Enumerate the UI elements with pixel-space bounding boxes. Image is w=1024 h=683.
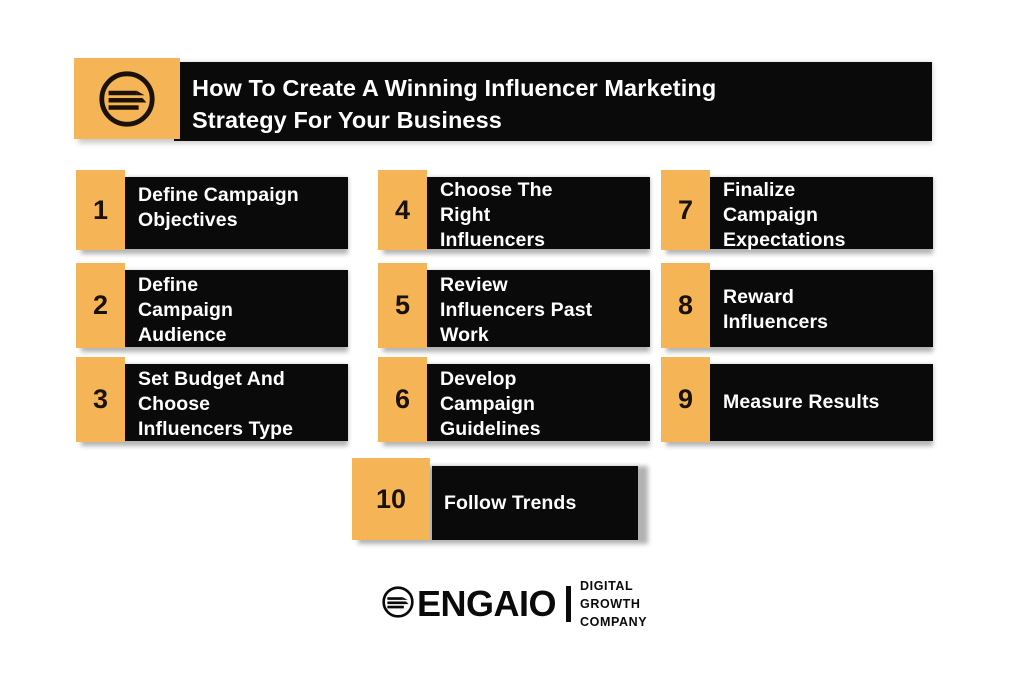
infographic-canvas: How To Create A Winning Influencer Marke… bbox=[0, 0, 1024, 683]
step-label: Reward Influencers bbox=[723, 285, 923, 335]
step-item-9[interactable]: 9 Measure Results bbox=[661, 357, 933, 446]
step-label: Choose The Right Influencers bbox=[440, 178, 640, 253]
step-label: Develop Campaign Guidelines bbox=[440, 367, 640, 442]
engaio-circle-logo-icon bbox=[381, 585, 415, 624]
step-number-badge: 2 bbox=[76, 263, 125, 348]
page-title: How To Create A Winning Influencer Marke… bbox=[192, 72, 912, 137]
step-item-2[interactable]: 2 Define Campaign Audience bbox=[76, 263, 348, 352]
step-number-badge: 4 bbox=[378, 170, 427, 250]
footer-tagline: DIGITAL GROWTH COMPANY bbox=[580, 577, 701, 631]
step-label: Measure Results bbox=[723, 390, 928, 415]
step-item-5[interactable]: 5 Review Influencers Past Work bbox=[378, 263, 650, 352]
step-number-badge: 1 bbox=[76, 170, 125, 250]
step-item-4[interactable]: 4 Choose The Right Influencers bbox=[378, 170, 650, 254]
step-item-7[interactable]: 7 Finalize Campaign Expectations bbox=[661, 170, 933, 254]
step-item-10[interactable]: 10 Follow Trends bbox=[352, 458, 648, 544]
step-item-1[interactable]: 1 Define Campaign Objectives bbox=[76, 170, 348, 254]
header-banner: How To Create A Winning Influencer Marke… bbox=[74, 58, 932, 143]
step-label: Follow Trends bbox=[444, 491, 634, 516]
footer-tagline-line1: DIGITAL bbox=[580, 577, 701, 595]
step-item-8[interactable]: 8 Reward Influencers bbox=[661, 263, 933, 352]
step-number-badge: 9 bbox=[661, 357, 710, 442]
step-number-badge: 10 bbox=[352, 458, 430, 540]
step-number-badge: 7 bbox=[661, 170, 710, 250]
footer-brand-name: ENGAIO bbox=[417, 586, 556, 622]
step-label: Define Campaign Audience bbox=[138, 273, 338, 348]
step-item-3[interactable]: 3 Set Budget And Choose Influencers Type bbox=[76, 357, 348, 446]
step-number-badge: 5 bbox=[378, 263, 427, 348]
step-number-badge: 6 bbox=[378, 357, 427, 442]
step-label: Review Influencers Past Work bbox=[440, 273, 645, 348]
engaio-circle-logo-icon bbox=[74, 58, 180, 139]
step-item-6[interactable]: 6 Develop Campaign Guidelines bbox=[378, 357, 650, 446]
step-number-badge: 3 bbox=[76, 357, 125, 442]
step-label: Finalize Campaign Expectations bbox=[723, 178, 928, 253]
footer-logo: ENGAIO DIGITAL GROWTH COMPANY bbox=[381, 580, 701, 628]
footer-divider bbox=[566, 586, 571, 622]
step-label: Set Budget And Choose Influencers Type bbox=[138, 367, 343, 442]
step-number-badge: 8 bbox=[661, 263, 710, 348]
footer-tagline-line2: GROWTH COMPANY bbox=[580, 595, 701, 631]
step-label: Define Campaign Objectives bbox=[138, 183, 338, 233]
